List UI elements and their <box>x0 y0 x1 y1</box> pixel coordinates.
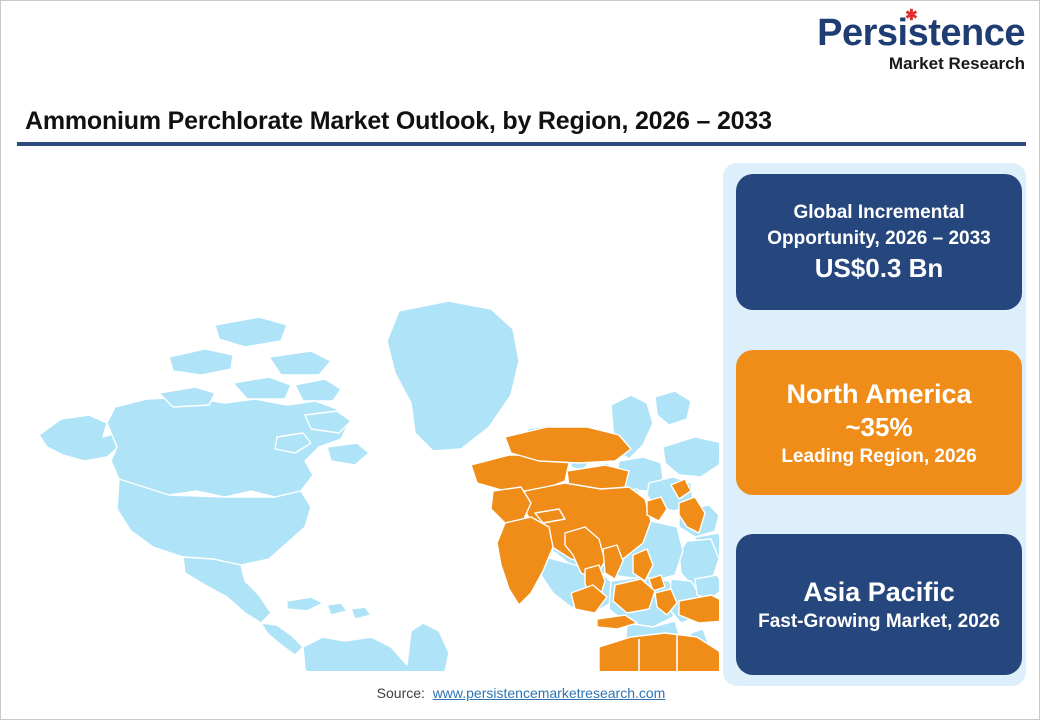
infographic-canvas: Persistence ✱ Market Research Ammonium P… <box>0 0 1040 720</box>
card-global-incremental-opportunity[interactable]: Global Incremental Opportunity, 2026 – 2… <box>736 174 1022 310</box>
source-link[interactable]: www.persistencemarketresearch.com <box>433 685 666 701</box>
stats-panel: Global Incremental Opportunity, 2026 – 2… <box>723 163 1026 686</box>
card-3-region: Asia Pacific <box>803 575 955 609</box>
card-fastest-growing-region[interactable]: Asia Pacific Fast-Growing Market, 2026 <box>736 534 1022 675</box>
title-divider <box>17 142 1026 146</box>
source-line: Source: www.persistencemarketresearch.co… <box>1 685 1040 701</box>
card-2-share: ~35% <box>845 411 912 444</box>
card-2-region: North America <box>786 377 971 411</box>
card-1-line2: Opportunity, 2026 – 2033 <box>767 226 991 252</box>
logo-subtitle: Market Research <box>790 54 1025 73</box>
page-title: Ammonium Perchlorate Market Outlook, by … <box>25 107 772 136</box>
source-label: Source: <box>377 685 425 701</box>
card-2-caption: Leading Region, 2026 <box>781 444 976 469</box>
logo-wordmark: Persistence ✱ <box>817 13 1025 53</box>
world-map <box>19 161 719 671</box>
card-3-caption: Fast-Growing Market, 2026 <box>758 609 1000 634</box>
red-asterisk-icon: ✱ <box>905 10 916 21</box>
card-1-value: US$0.3 Bn <box>815 252 944 285</box>
logo-wordmark-text: Persistence <box>817 12 1025 54</box>
card-1-line1: Global Incremental <box>793 200 964 226</box>
card-leading-region[interactable]: North America ~35% Leading Region, 2026 <box>736 350 1022 495</box>
company-logo: Persistence ✱ Market Research <box>790 13 1025 75</box>
